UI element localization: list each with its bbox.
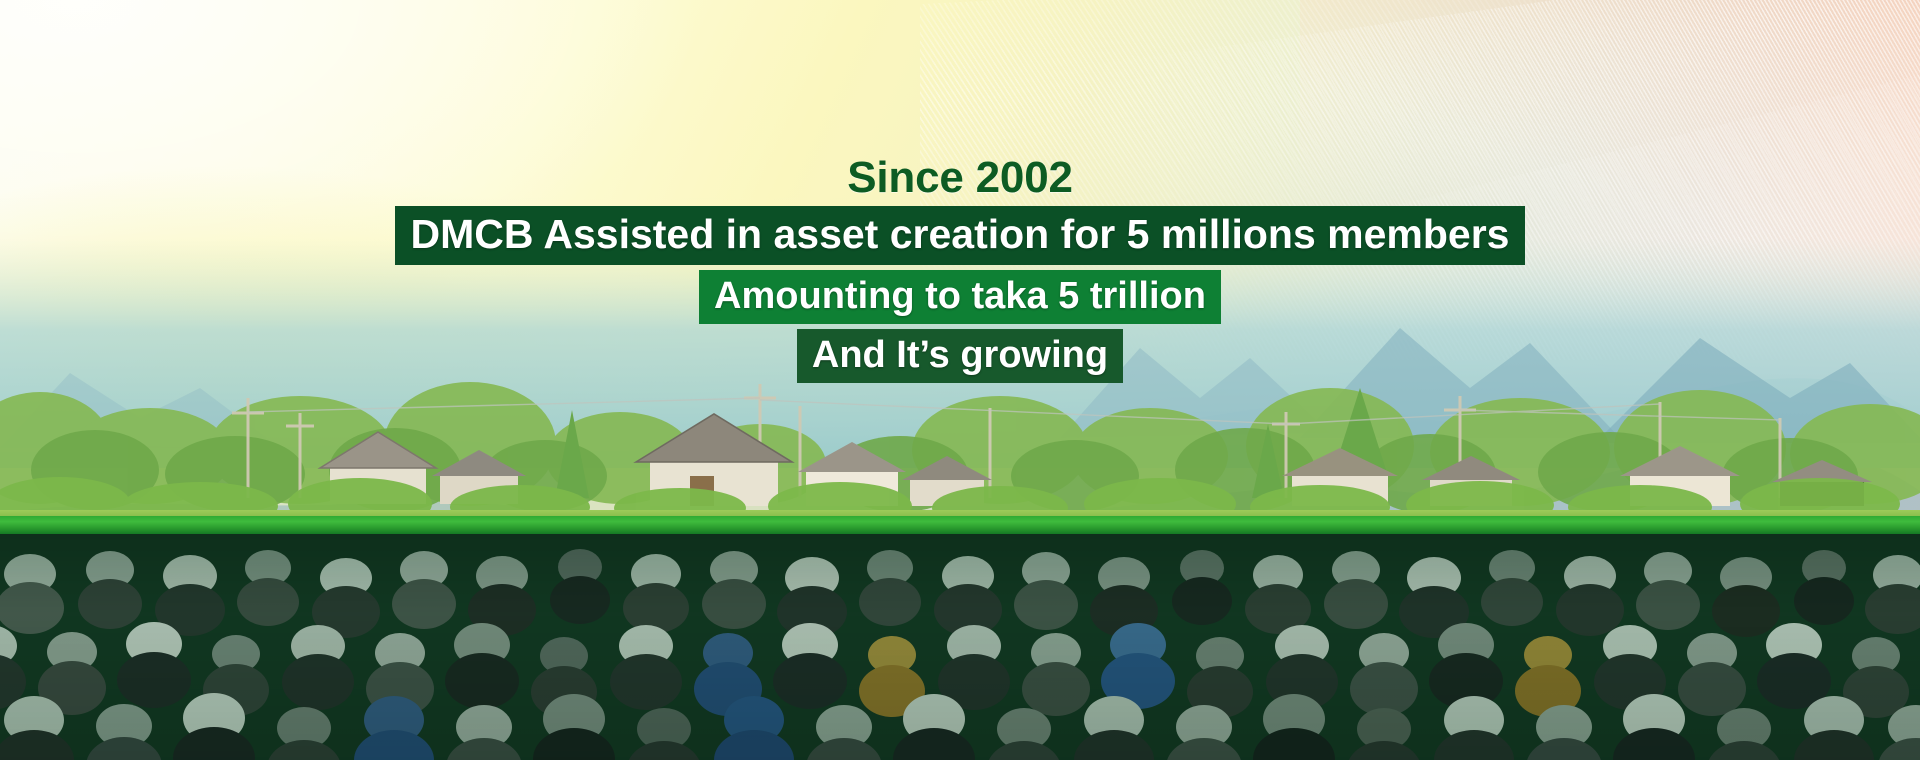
headline-bar-asset-creation: DMCB Assisted in asset creation for 5 mi… (395, 206, 1526, 265)
crowd-illustration (0, 534, 1920, 760)
headline-text-block: Since 2002 DMCB Assisted in asset creati… (0, 156, 1920, 383)
since-headline: Since 2002 (847, 156, 1073, 200)
banner-root: Since 2002 DMCB Assisted in asset creati… (0, 0, 1920, 760)
headline-bar-growing: And It’s growing (797, 329, 1123, 383)
green-divider-strip (0, 516, 1920, 536)
headline-bar-amount: Amounting to taka 5 trillion (699, 270, 1221, 324)
crowd-band (0, 534, 1920, 760)
